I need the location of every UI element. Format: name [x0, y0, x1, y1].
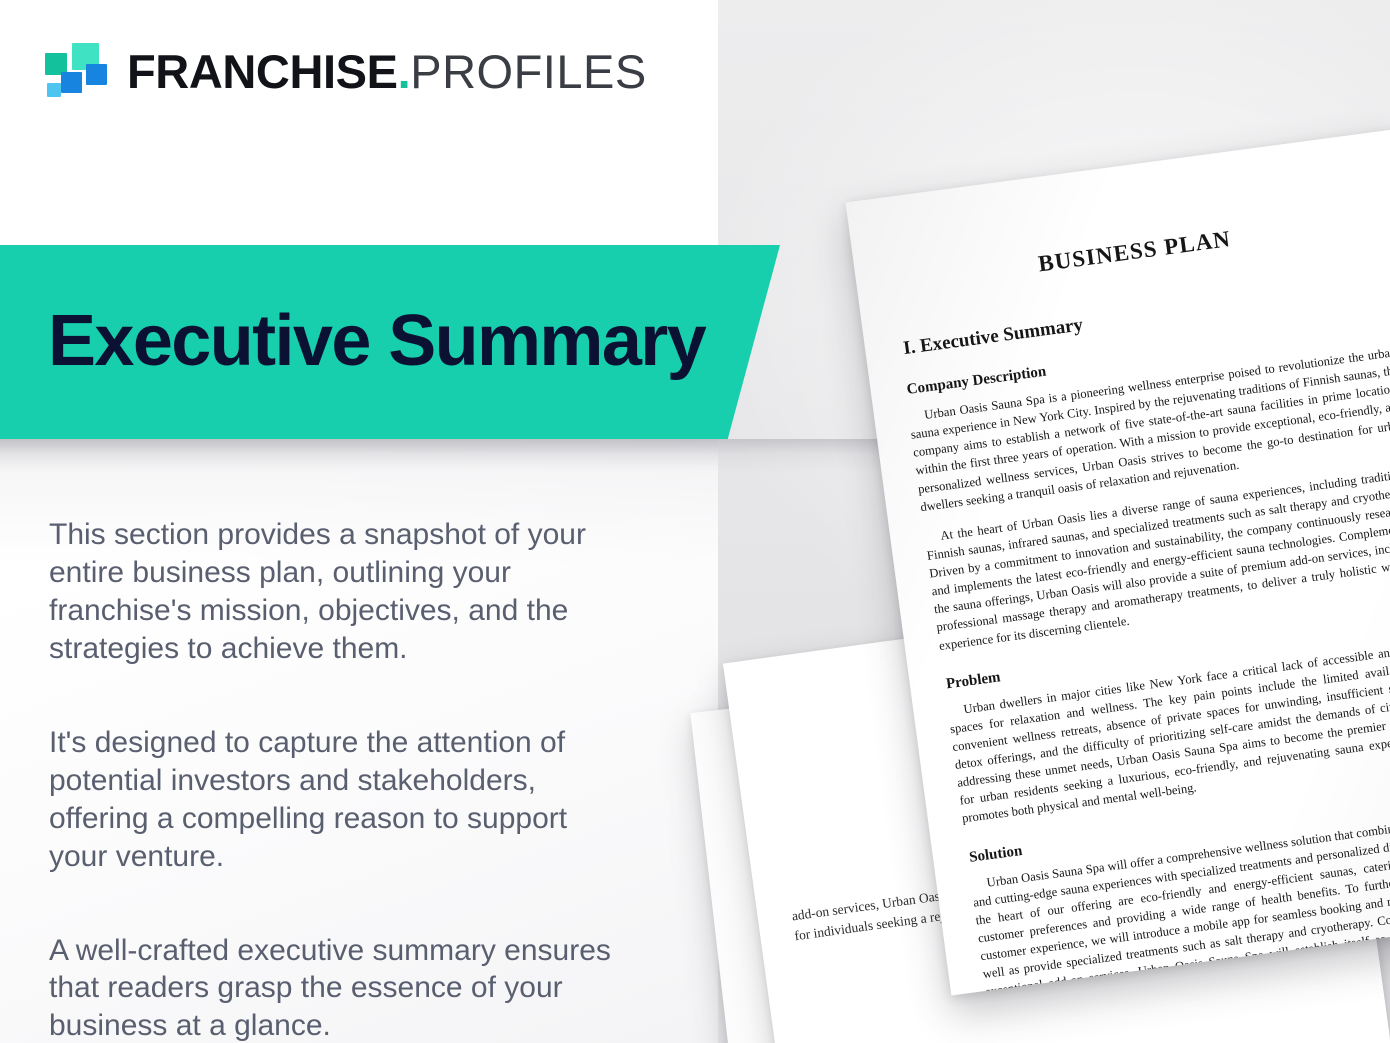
page-title: Executive Summary: [48, 300, 705, 382]
document-section-company-description: Company Description Urban Oasis Sauna Sp…: [904, 317, 1390, 654]
brand-name-dot: .: [398, 45, 411, 98]
brand-logo[interactable]: FRANCHISE.PROFILES: [45, 43, 647, 99]
document-paragraph: Urban dwellers in major cities like New …: [947, 637, 1390, 828]
brand-wordmark: FRANCHISE.PROFILES: [127, 48, 647, 95]
body-paragraph-1: This section provides a snapshot of your…: [49, 516, 629, 668]
logo-square-cyan-small: [47, 83, 61, 97]
body-paragraph-2: It's designed to capture the attention o…: [49, 724, 629, 876]
brand-name-thin: PROFILES: [410, 45, 646, 98]
document-stack-image: add-on services, Urban Oasis Sauna Spa w…: [700, 120, 1390, 1043]
brand-name-bold: FRANCHISE: [127, 45, 398, 98]
logo-square-blue-left: [61, 72, 82, 93]
body-paragraph-3: A well-crafted executive summary ensures…: [49, 932, 629, 1043]
body-copy: This section provides a snapshot of your…: [49, 516, 629, 1043]
logo-mark-squares-icon: [45, 43, 107, 99]
logo-square-blue-right: [86, 64, 107, 85]
slide-root: FRANCHISE.PROFILES Executive Summary Thi…: [0, 0, 1390, 1043]
